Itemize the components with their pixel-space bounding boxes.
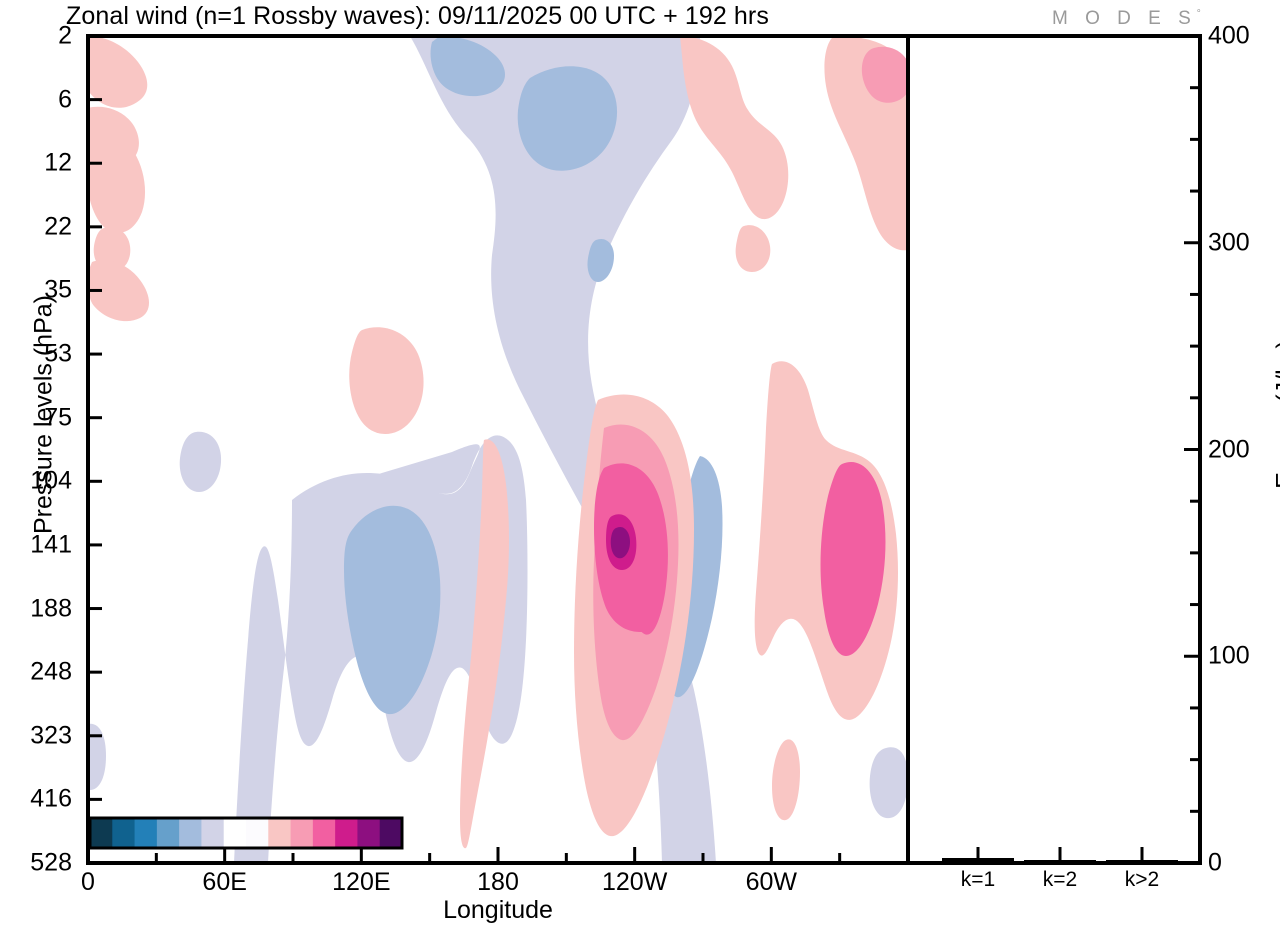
contour-field <box>88 36 908 863</box>
colorbar-swatch <box>90 818 113 848</box>
colorbar-swatch <box>268 818 291 848</box>
colorbar-swatch <box>135 818 158 848</box>
colorbar-swatch <box>157 818 180 848</box>
colorbar-swatch <box>357 818 380 848</box>
colorbar-swatch <box>291 818 314 848</box>
colorbar-swatch <box>335 818 358 848</box>
colorbar-swatch <box>313 818 336 848</box>
colorbar-swatch <box>246 818 269 848</box>
colorbar-swatch <box>179 818 202 848</box>
figure-root: Zonal wind (n=1 Rossby waves): 09/11/202… <box>0 0 1280 930</box>
colorbar-swatch <box>112 818 135 848</box>
energy-panel <box>908 36 1200 863</box>
contour-plot <box>0 0 1280 930</box>
colorbar-swatch <box>201 818 224 848</box>
colorbar-swatch <box>224 818 247 848</box>
colorbar <box>90 818 403 848</box>
colorbar-swatch <box>380 818 403 848</box>
contour-neg-weak-right-edge <box>870 747 908 818</box>
